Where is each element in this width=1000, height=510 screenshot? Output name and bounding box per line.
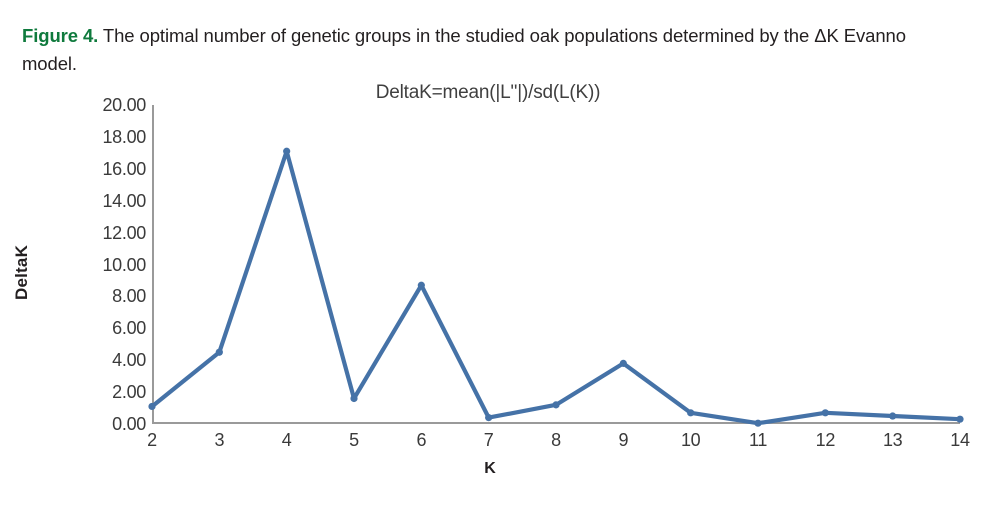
series-line [152,151,960,423]
data-point-marker: K=9, DeltaK=3.8 [620,360,627,367]
x-axis-tick-labels: 234567891011121314 [152,430,960,458]
y-axis-title: DeltaK [12,245,32,300]
x-axis-tick-label: 6 [391,430,451,451]
chart-title: DeltaK=mean(|L''|)/sd(L(K)) [0,82,1000,104]
data-point-marker: K=8, DeltaK=1.2 [552,401,559,408]
plot-area: K=2, DeltaK=1.1K=3, DeltaK=4.5K=4, Delta… [152,105,960,424]
data-point-marker: K=2, DeltaK=1.1 [148,403,155,410]
x-axis-tick-label: 9 [593,430,653,451]
chart-title-text: DeltaK=mean(|L''|)/sd(L(K)) [376,82,601,104]
data-point-marker: K=13, DeltaK=0.5 [889,412,896,419]
x-axis-tick-label: 10 [661,430,721,451]
data-point-marker: K=11, DeltaK=0.05 [754,420,761,427]
x-axis-title-text: K [484,460,496,478]
line-series-svg: K=2, DeltaK=1.1K=3, DeltaK=4.5K=4, Delta… [152,105,960,424]
y-axis-tick-label: 14.00 [60,192,146,210]
y-axis-tick-label: 4.00 [60,351,146,369]
x-axis-tick-label: 8 [526,430,586,451]
x-axis-tick-label: 7 [459,430,519,451]
x-axis-tick-label: 5 [324,430,384,451]
x-axis-tick-label: 3 [189,430,249,451]
data-point-marker: K=7, DeltaK=0.4 [485,414,492,421]
data-point-marker: K=3, DeltaK=4.5 [216,349,223,356]
y-axis-tick-label: 2.00 [60,383,146,401]
y-axis-tick-label: 18.00 [60,128,146,146]
x-axis-tick-label: 14 [930,430,990,451]
y-axis-tick-label: 16.00 [60,160,146,178]
x-axis-tick-label: 13 [863,430,923,451]
data-point-marker: K=4, DeltaK=17.1 [283,148,290,155]
figure-number-label: Figure 4. [22,25,98,46]
y-axis-tick-label: 6.00 [60,319,146,337]
chart-container: DeltaK=mean(|L''|)/sd(L(K)) DeltaK 20.00… [0,78,1000,510]
figure-caption-text: The optimal number of genetic groups in … [22,25,906,74]
data-point-marker: K=12, DeltaK=0.7 [822,409,829,416]
x-axis-tick-label: 2 [122,430,182,451]
y-axis-tick-label: 8.00 [60,287,146,305]
data-point-marker: K=14, DeltaK=0.3 [956,416,963,423]
data-point-marker: K=10, DeltaK=0.7 [687,409,694,416]
figure-caption: Figure 4. The optimal number of genetic … [22,22,962,78]
x-axis-tick-label: 12 [795,430,855,451]
data-point-marker: K=6, DeltaK=8.7 [418,282,425,289]
y-axis-tick-label: 10.00 [60,256,146,274]
y-axis-tick-label: 20.00 [60,96,146,114]
x-axis-title: K [0,460,1000,478]
data-point-marker: K=5, DeltaK=1.6 [350,395,357,402]
x-axis-tick-label: 11 [728,430,788,451]
x-axis-tick-label: 4 [257,430,317,451]
y-axis-tick-label: 12.00 [60,224,146,242]
